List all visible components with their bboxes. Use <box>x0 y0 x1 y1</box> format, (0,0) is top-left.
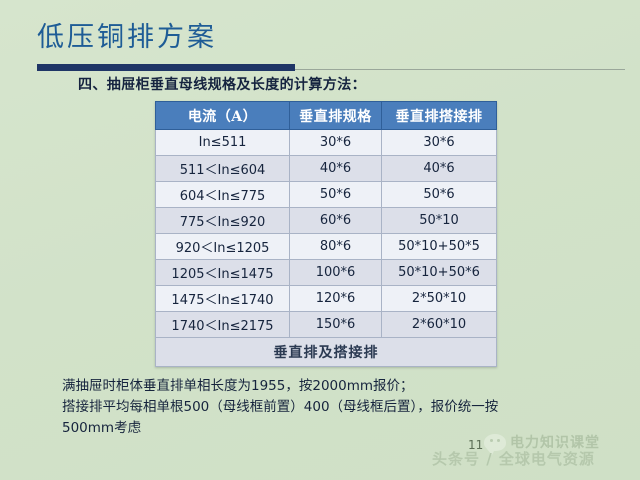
column-header-current: 电流（A） <box>156 102 290 130</box>
note-line-1: 满抽屉时柜体垂直排单相长度为1955，按2000mm报价； <box>62 376 622 397</box>
table-footer-label: 垂直排及搭接排 <box>156 338 497 367</box>
title-accent-bar <box>37 64 295 71</box>
cell-lap-joint: 50*6 <box>382 182 497 208</box>
cell-lap-joint: 50*10 <box>382 208 497 234</box>
cell-current: 1475＜In≤1740 <box>156 286 290 312</box>
cell-current: 604＜In≤775 <box>156 182 290 208</box>
cell-vertical-spec: 30*6 <box>290 130 382 156</box>
busbar-spec-table: 电流（A） 垂直排规格 垂直排搭接排 In≤511 30*6 30*6 511＜… <box>155 101 497 367</box>
title-block: 低压铜排方案 <box>37 22 607 54</box>
cell-lap-joint: 30*6 <box>382 130 497 156</box>
cell-current: 1205＜In≤1475 <box>156 260 290 286</box>
cell-vertical-spec: 80*6 <box>290 234 382 260</box>
slide-canvas: 低压铜排方案 四、抽屉柜垂直母线规格及长度的计算方法： 电流（A） 垂直排规格 … <box>0 0 640 480</box>
cell-vertical-spec: 120*6 <box>290 286 382 312</box>
cell-lap-joint: 2*60*10 <box>382 312 497 338</box>
cell-vertical-spec: 50*6 <box>290 182 382 208</box>
cell-lap-joint: 50*10+50*5 <box>382 234 497 260</box>
table-row: 511＜In≤604 40*6 40*6 <box>156 156 497 182</box>
cell-lap-joint: 40*6 <box>382 156 497 182</box>
cell-lap-joint: 50*10+50*6 <box>382 260 497 286</box>
table-row: 1740＜In≤2175 150*6 2*60*10 <box>156 312 497 338</box>
table-row: In≤511 30*6 30*6 <box>156 130 497 156</box>
page-number: 11 <box>468 438 483 452</box>
cell-current: 511＜In≤604 <box>156 156 290 182</box>
title-divider <box>37 64 627 72</box>
cell-lap-joint: 2*50*10 <box>382 286 497 312</box>
cell-vertical-spec: 100*6 <box>290 260 382 286</box>
table-footer-row: 垂直排及搭接排 <box>156 338 497 367</box>
cell-vertical-spec: 60*6 <box>290 208 382 234</box>
title-thin-rule <box>295 69 625 70</box>
section-subtitle: 四、抽屉柜垂直母线规格及长度的计算方法： <box>78 76 366 95</box>
note-line-2: 搭接排平均每相单根500（母线框前置）400（母线框后置），报价统一按 <box>62 397 622 418</box>
cell-current: 1740＜In≤2175 <box>156 312 290 338</box>
spec-table-container: 电流（A） 垂直排规格 垂直排搭接排 In≤511 30*6 30*6 511＜… <box>155 101 496 367</box>
table-row: 920＜In≤1205 80*6 50*10+50*5 <box>156 234 497 260</box>
notes-paragraph: 满抽屉时柜体垂直排单相长度为1955，按2000mm报价； 搭接排平均每相单根5… <box>62 376 622 439</box>
cell-current: In≤511 <box>156 130 290 156</box>
table-row: 1205＜In≤1475 100*6 50*10+50*6 <box>156 260 497 286</box>
watermark-source-label: 头条号 / 全球电气资源 <box>432 448 595 469</box>
cell-current: 775＜In≤920 <box>156 208 290 234</box>
column-header-vertical-spec: 垂直排规格 <box>290 102 382 130</box>
table-header-row: 电流（A） 垂直排规格 垂直排搭接排 <box>156 102 497 130</box>
cell-vertical-spec: 150*6 <box>290 312 382 338</box>
cell-vertical-spec: 40*6 <box>290 156 382 182</box>
column-header-lap-joint: 垂直排搭接排 <box>382 102 497 130</box>
cell-current: 920＜In≤1205 <box>156 234 290 260</box>
page-title: 低压铜排方案 <box>37 22 607 54</box>
note-line-3: 500mm考虑 <box>62 418 622 439</box>
table-row: 775＜In≤920 60*6 50*10 <box>156 208 497 234</box>
table-row: 1475＜In≤1740 120*6 2*50*10 <box>156 286 497 312</box>
table-row: 604＜In≤775 50*6 50*6 <box>156 182 497 208</box>
